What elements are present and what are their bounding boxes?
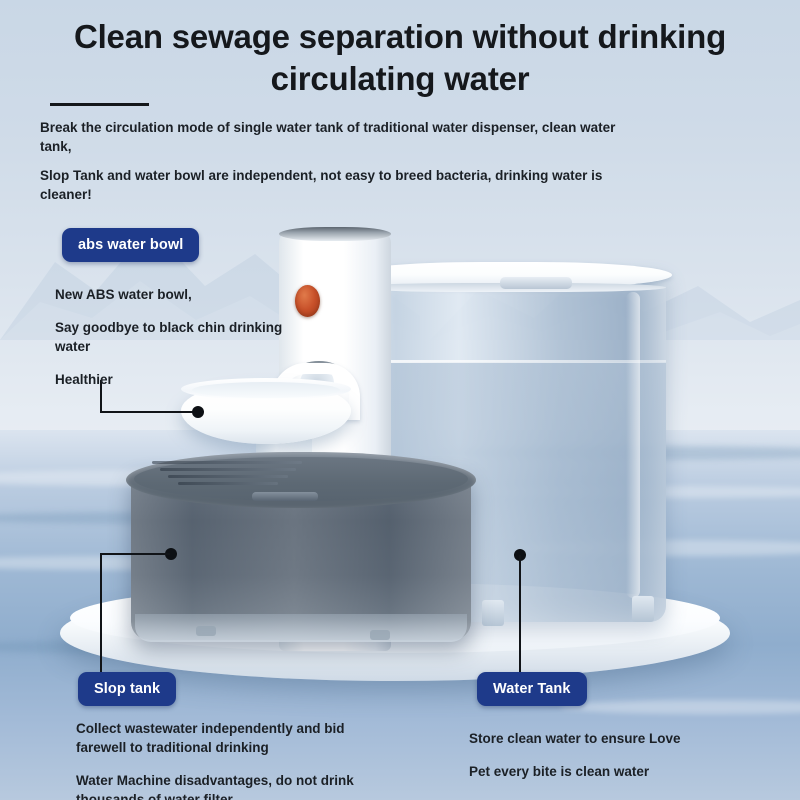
slop-tank-bottom [135, 614, 467, 642]
callout-bowl-line-3: Healthier [55, 370, 320, 389]
slop-tank-foot [196, 626, 216, 636]
infographic-page: Clean sewage separation without drinking… [0, 0, 800, 800]
lede-line-2: Slop Tank and water bowl are independent… [40, 166, 640, 204]
tank-water-line [352, 360, 666, 363]
bowl-leader-horizontal [100, 411, 196, 413]
lede-line-1: Break the circulation mode of single wat… [40, 118, 640, 156]
tank-foot [632, 596, 654, 622]
callout-bowl-line-2: Say goodbye to black chin drinking water [55, 318, 320, 356]
callout-slop-line-2: Water Machine disadvantages, do not drin… [76, 771, 366, 800]
badge-abs-water-bowl[interactable]: abs water bowl [62, 228, 199, 262]
page-title: Clean sewage separation without drinking… [40, 16, 760, 99]
title-rule [50, 103, 149, 106]
callout-tank-line-2: Pet every bite is clean water [469, 762, 769, 781]
water-tower-top [279, 227, 391, 241]
slop-leader-horizontal [100, 553, 170, 555]
tank-highlight [626, 292, 640, 598]
slop-leader-vertical [100, 553, 102, 673]
callout-tank-line-1: Store clean water to ensure Love [469, 729, 769, 748]
badge-water-tank[interactable]: Water Tank [477, 672, 587, 706]
callout-tank-text: Store clean water to ensure Love Pet eve… [469, 729, 769, 781]
bowl-leader-dot [192, 406, 204, 418]
callout-slop-line-1: Collect wastewater independently and bid… [76, 719, 366, 757]
slop-tank-foot [370, 630, 390, 640]
slop-tank-grille [152, 461, 302, 491]
slop-tank-tab [252, 492, 318, 501]
tank-leader-vertical [519, 555, 521, 673]
callout-slop-text: Collect wastewater independently and bid… [76, 719, 366, 800]
lede-paragraphs: Break the circulation mode of single wat… [40, 118, 640, 215]
callout-bowl-line-1: New ABS water bowl, [55, 285, 320, 304]
tank-lid-handle [500, 277, 572, 289]
badge-slop-tank[interactable]: Slop tank [78, 672, 176, 706]
tank-foot [482, 600, 504, 626]
callout-bowl-text: New ABS water bowl, Say goodbye to black… [55, 285, 320, 390]
